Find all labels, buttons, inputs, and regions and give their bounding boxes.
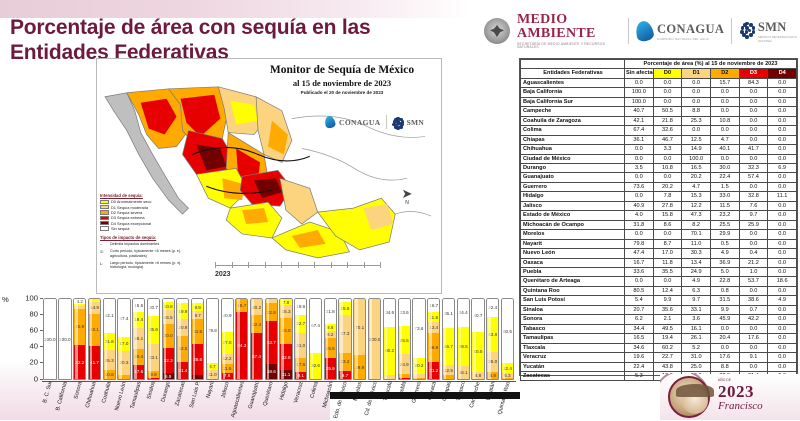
cell-d4: 0.0	[768, 362, 797, 371]
cell-d3: 0.0	[739, 343, 768, 352]
emblem-portrait-disc	[668, 376, 710, 418]
bar-segment-d3: 38.6	[192, 344, 203, 375]
bar-column: 21.432.520.919.9	[176, 298, 189, 380]
cell-d1: 47.3	[682, 211, 711, 220]
bar-segment-d0: 22.7	[295, 315, 306, 333]
bar-segment-d1: 9.7	[192, 311, 203, 319]
bar-segment-d3: 53.7	[266, 321, 277, 364]
header-d3: D3	[739, 69, 768, 78]
scale-tick	[314, 262, 315, 268]
impact-key-squiggle: ~	[100, 242, 107, 247]
bar-segment-d3: 84.3	[236, 312, 247, 379]
bar-column: 11.132.833.015.37.8	[279, 298, 292, 380]
cell-d0: 35.5	[653, 267, 682, 276]
stacked-bar: 6.932.330.016.510.8	[162, 298, 175, 380]
bar-segment-d1: 24.9	[399, 354, 410, 374]
bar-segment-d1: 15.3	[280, 305, 291, 317]
cell-sin-afectacion: 0.0	[625, 173, 654, 182]
cell-sin-afectacion: 40.9	[625, 201, 654, 210]
smn-logo: SMN SERVICIO METEOROLÓGICO NACIONAL	[739, 20, 800, 43]
stacked-bar: 100.0	[368, 298, 382, 380]
cell-d0: 17.0	[653, 249, 682, 258]
cell-d0: 46.7	[653, 135, 682, 144]
impact-text-delimiter: Delimita impactos dominantes	[110, 242, 159, 247]
cell-d2: 4.7	[710, 135, 739, 144]
cell-d3: 0.0	[739, 135, 768, 144]
cell-d1: 11.0	[682, 239, 711, 248]
cell-entity: Sonora	[521, 315, 625, 324]
bar-column: 9.117.631.022.719.6	[294, 298, 307, 380]
bar-segment-d3: 25.9	[325, 358, 336, 379]
government-header: MEDIO AMBIENTE SECRETARÍA DE MEDIO AMBIE…	[478, 8, 800, 54]
stacked-bar: 16.149.534.4	[457, 298, 470, 380]
bar-segment-d1: 13.4	[428, 322, 439, 333]
cell-d1: 16.5	[682, 163, 711, 172]
cell-sin-afectacion: 19.6	[625, 353, 654, 362]
cell-sin-afectacion: 79.8	[625, 239, 654, 248]
table-row: Querétaro de Arteaga0.00.04.922.853.718.…	[521, 277, 797, 286]
y-tick-0: 0	[34, 375, 38, 384]
cell-d3: 0.0	[739, 239, 768, 248]
bar-segment-d0: 32.6	[310, 353, 321, 379]
cell-d0: 60.2	[653, 343, 682, 352]
bar-column: 100.0	[43, 298, 57, 380]
table: Porcentaje de área (%) al 15 de noviembr…	[520, 59, 797, 381]
bar-segment-d3: 21.2	[428, 362, 439, 379]
map-scale-bar	[215, 262, 380, 269]
cell-sin-afectacion: 100.0	[625, 97, 654, 106]
cell-d1: 16.1	[682, 324, 711, 333]
divider	[628, 18, 629, 44]
cell-d2: 15.7	[710, 78, 739, 87]
bar-segment-d2: 10.8	[104, 370, 115, 379]
cell-sin-afectacion: 100.0	[625, 88, 654, 97]
conagua-subtitle: COMISIÓN NACIONAL DEL AGUA	[657, 37, 724, 41]
cell-entity: Aguascalientes	[521, 78, 625, 87]
cell-d0: 0.0	[653, 173, 682, 182]
cell-d0: 22.7	[653, 353, 682, 362]
cell-sin-afectacion: 73.6	[625, 182, 654, 191]
bar-segment-sin: 36.1	[443, 299, 454, 328]
stacked-bar: 30.317.047.4	[117, 298, 130, 380]
cell-d4: 0.0	[768, 145, 797, 154]
cell-d3: 32.8	[739, 192, 768, 201]
legend-swatch-d4	[100, 221, 109, 225]
table-row: Campeche40.750.58.80.00.00.0	[521, 107, 797, 116]
cell-sin-afectacion: 3.5	[625, 163, 654, 172]
stacked-bar: 21.432.520.919.9	[176, 298, 189, 380]
bar-column: 12.546.736.1	[442, 298, 455, 380]
bar-segment-d2	[118, 375, 129, 379]
cell-entity: Jalisco	[521, 201, 625, 210]
cell-d0: 8.7	[653, 239, 682, 248]
cell-d3: 0.0	[739, 182, 768, 191]
conagua-logo: CONAGUA COMISIÓN NACIONAL DEL AGUA	[636, 21, 724, 41]
ministry-name: MEDIO AMBIENTE	[517, 13, 621, 41]
bar-segment-d2: 11.5	[222, 364, 233, 373]
bar-segment-d1: 12.2	[222, 354, 233, 364]
bar-segment-d0: 12.4	[502, 363, 513, 373]
cell-sin-afectacion: 5.3	[625, 371, 654, 380]
cell-d1: 0.0	[682, 97, 711, 106]
cell-d3: 0.0	[739, 97, 768, 106]
divider	[731, 18, 732, 44]
divider	[386, 115, 387, 129]
bar-column: 42.245.96.2	[73, 298, 86, 380]
cell-sin-afectacion: 47.4	[625, 249, 654, 258]
bar-segment-d1: 8.8	[472, 372, 483, 379]
cell-d0: 49.5	[653, 324, 682, 333]
cell-entity: Tabasco	[521, 324, 625, 333]
cell-d4: 0.0	[768, 343, 797, 352]
cell-d0: 0.0	[653, 154, 682, 163]
stacked-bar: 11.132.833.015.37.8	[279, 298, 292, 380]
stacked-bar: 21.236.913.411.816.7	[427, 298, 440, 380]
table-row: Colima67.432.60.00.00.00.0	[521, 126, 797, 135]
legend-title: Intensidad de sequía:	[100, 193, 192, 198]
bar-segment-d1: 33.1	[148, 344, 159, 370]
cell-d2: 10.8	[710, 116, 739, 125]
cell-d4: 0.0	[768, 315, 797, 324]
chart-plot-area: 100.0100.042.245.96.241.740.114.910.825.…	[43, 298, 514, 380]
bar-segment-sin	[177, 299, 188, 303]
bar-segment-sin	[192, 299, 203, 303]
bar-segment-d3: 9.7	[339, 371, 350, 379]
bar-column: 6.312.480.5	[501, 298, 514, 380]
cell-d4: 0.0	[768, 126, 797, 135]
bar-segment-d0: 35.5	[399, 326, 410, 354]
cell-d3: 41.7	[739, 145, 768, 154]
bar-segment-d1: 47.3	[339, 315, 350, 353]
cell-d2: 45.9	[710, 315, 739, 324]
cell-d3: 57.4	[739, 173, 768, 182]
cell-d4: 0.0	[768, 249, 797, 258]
bar-segment-sin: 42.1	[104, 299, 115, 333]
map-title: Monitor de Sequía de México	[247, 64, 437, 76]
bar-segment-d1	[413, 374, 424, 378]
cell-entity: Colima	[521, 126, 625, 135]
cell-d3: 0.0	[739, 230, 768, 239]
scale-tick	[298, 262, 299, 268]
stacked-bar: 60.234.6	[383, 298, 396, 380]
bar-segment-d1: 26.1	[133, 328, 144, 349]
impact-key-short: S:	[100, 249, 107, 258]
stacked-bar: 41.740.114.9	[88, 298, 101, 380]
bar-column: 100.0	[368, 298, 382, 380]
stacked-bar: 12.546.736.1	[442, 298, 455, 380]
table-row: Chiapas36.146.712.54.70.00.0	[521, 135, 797, 144]
cell-d1: 0.0	[682, 126, 711, 135]
stacked-bar: 11.08.779.8	[206, 298, 219, 380]
cell-d1: 25.3	[682, 116, 711, 125]
y-axis: % 100 80 60 40 20 0	[0, 296, 42, 382]
bar-column: 60.234.6	[383, 298, 396, 380]
header-group-date: al 15 de noviembre de 2023	[705, 61, 777, 67]
cell-d4: 0.0	[768, 305, 797, 314]
cell-d3: 0.0	[739, 107, 768, 116]
bar-segment-d1: 11.0	[207, 370, 218, 379]
cell-d2: 40.1	[710, 145, 739, 154]
stacked-bar: 38.631.59.79.9	[191, 298, 204, 380]
bar-column: 17.620.426.119.416.5	[132, 298, 145, 380]
bar-segment-d0: 15.8	[339, 302, 350, 315]
cell-d2: 33.0	[710, 192, 739, 201]
table-row: Tlaxcala34.660.25.20.00.00.0	[521, 343, 797, 352]
table-row: Guerrero73.620.24.71.50.00.0	[521, 182, 797, 191]
table-body: Aguascalientes0.00.00.015.784.30.0Baja C…	[521, 78, 797, 381]
cell-d0: 8.6	[653, 220, 682, 229]
header-blank	[521, 60, 625, 69]
cell-d2: 1.5	[710, 182, 739, 191]
header-d2: D2	[710, 69, 739, 78]
cell-d1: 26.1	[682, 334, 711, 343]
stacked-bar: 100.0	[43, 298, 57, 380]
bar-segment-d0: 9.9	[192, 303, 203, 311]
bar-segment-d2: 40.1	[89, 314, 100, 346]
bar-segment-d3	[399, 378, 410, 379]
impact-text-short: Corto periodo, típicamente <6 meses (p. …	[110, 249, 192, 258]
bar-segment-sin: 67.4	[310, 299, 321, 353]
table-row: Coahuila de Zaragoza42.121.825.310.80.00…	[521, 116, 797, 125]
table-row: Ciudad de México0.00.0100.00.00.00.0	[521, 154, 797, 163]
legend-label-d1: D1 Sequía moderada	[111, 205, 148, 210]
bar-segment-d4: 6.9	[163, 373, 174, 379]
bar-column: 30.317.047.4	[117, 298, 130, 380]
cell-d2: 0.0	[710, 97, 739, 106]
cell-d2: 0.0	[710, 343, 739, 352]
bar-segment-d2: 22.4	[251, 315, 262, 333]
bar-segment-d0: 7.8	[280, 299, 291, 305]
bar-segment-d0: 49.5	[458, 327, 469, 367]
cell-d3: 0.4	[739, 249, 768, 258]
cell-d4: 4.9	[768, 296, 797, 305]
bar-segment-sin: 40.7	[472, 299, 483, 332]
stacked-bar: 20.273.6	[412, 298, 425, 380]
cell-entity: Tamaulipas	[521, 334, 625, 343]
cell-entity: San Luis Potosí	[521, 296, 625, 305]
impact-legend-title: Tipos de impacto de sequía:	[100, 235, 192, 240]
bar-column: 100.0	[58, 298, 72, 380]
bar-segment-d3: 42.2	[74, 345, 85, 379]
bar-segment-sin: 20.7	[148, 299, 159, 316]
smn-subtitle: SERVICIO METEOROLÓGICO NACIONAL	[758, 35, 800, 43]
cell-d4: 0.0	[768, 201, 797, 210]
bar-segment-d0: 35.6	[148, 316, 159, 344]
cell-entity: Ciudad de México	[521, 154, 625, 163]
cell-d2: 0.8	[710, 286, 739, 295]
cell-sin-afectacion: 36.1	[625, 135, 654, 144]
map-smn-name: SMN	[407, 118, 425, 127]
cell-entity: Quintana Roo	[521, 286, 625, 295]
bar-segment-sin: 34.6	[384, 299, 395, 327]
bar-segment-d0: 43.8	[487, 317, 498, 352]
table-head: Porcentaje de área (%) al 15 de noviembr…	[521, 60, 797, 79]
bar-segment-d1: 30.3	[118, 351, 129, 375]
cell-d2: 29.9	[710, 230, 739, 239]
cell-sin-afectacion: 0.0	[625, 230, 654, 239]
stacked-bar: 25.925.58.28.631.8	[324, 298, 337, 380]
bar-column: 9.933.135.620.7	[147, 298, 160, 380]
impact-item-long: L: Largo periodo, típicamente >6 meses (…	[100, 261, 192, 270]
cell-sin-afectacion: 67.4	[625, 126, 654, 135]
table-row: Quintana Roo80.512.46.30.80.00.0	[521, 286, 797, 295]
cell-d2: 31.5	[710, 296, 739, 305]
bar-segment-d1: 31.0	[295, 333, 306, 358]
header-sin-afectacion: Sin afectación	[625, 69, 654, 78]
scale-tick	[364, 262, 365, 268]
cell-entity: Baja California Sur	[521, 97, 625, 106]
x-axis-labels: B. C. SurB. CaliforniaSonoraChihuahuaCoa…	[43, 382, 514, 420]
y-tick-20: 20	[30, 358, 38, 367]
bar-segment-sin: 79.8	[207, 299, 218, 363]
stacked-bar: 18.653.722.8	[265, 298, 278, 380]
header-sin-line2: afectación	[636, 70, 653, 76]
cell-d4: 0.0	[768, 324, 797, 333]
cell-d4: 6.9	[768, 163, 797, 172]
stacked-bar: 84.315.7	[235, 298, 248, 380]
bar-segment-sin	[163, 299, 174, 302]
bar-segment-d4	[192, 375, 203, 379]
cell-d2: 5.0	[710, 267, 739, 276]
bar-segment-d1: 100.0	[369, 299, 381, 379]
bar-segment-d3: 7.6	[222, 373, 233, 379]
header-group-title: Porcentaje de área (%) al 15 de noviembr…	[625, 60, 797, 69]
bar-column: 84.315.7	[235, 298, 248, 380]
cell-d2: 0.0	[710, 107, 739, 116]
table-row: Hidalgo0.07.815.333.032.811.1	[521, 192, 797, 201]
legend-label-d2: D2 Sequía severa	[111, 210, 142, 215]
cell-entity: Veracruz	[521, 353, 625, 362]
legend-swatch-d3	[100, 216, 109, 220]
cell-d2: 8.8	[710, 362, 739, 371]
cell-d4: 0.0	[768, 135, 797, 144]
cell-sin-afectacion: 0.0	[625, 192, 654, 201]
cell-d0: 15.8	[653, 211, 682, 220]
cell-d0: 0.0	[653, 97, 682, 106]
stacked-bar: 8.825.043.822.4	[486, 298, 499, 380]
bar-segment-d1: 70.1	[354, 299, 365, 355]
cell-d4: 0.0	[768, 211, 797, 220]
scale-tick	[265, 262, 266, 268]
table-row: Nuevo León47.417.030.34.90.40.0	[521, 249, 797, 258]
bar-column: 24.935.533.6	[398, 298, 411, 380]
stacked-bar: 9.933.135.620.7	[147, 298, 160, 380]
cell-d0: 21.8	[653, 116, 682, 125]
cell-d0: 2.1	[653, 315, 682, 324]
bar-segment-d2: 36.9	[428, 333, 439, 363]
cell-d3: 42.2	[739, 315, 768, 324]
cell-entity: Tlaxcala	[521, 343, 625, 352]
bar-segment-d2	[413, 378, 424, 379]
cell-d1: 30.3	[682, 249, 711, 258]
cell-d3: 1.0	[739, 267, 768, 276]
cell-entity: Chihuahua	[521, 145, 625, 154]
bar-segment-d1: 20.2	[251, 299, 262, 315]
cell-d1: 12.2	[682, 201, 711, 210]
compass-north-label: N	[397, 200, 417, 206]
bar-segment-sin: 34.4	[458, 299, 469, 327]
map-published-date: Publicado el 20 de noviembre de 2023	[247, 90, 437, 95]
bar-segment-d1: 12.5	[443, 365, 454, 375]
map-legend: Intensidad de sequía: D0 Anormalmente se…	[100, 193, 192, 272]
bar-segment-d0: 8.7	[207, 363, 218, 370]
bar-column: 41.740.114.9	[88, 298, 101, 380]
y-tick-100: 100	[25, 294, 38, 303]
cell-d3: 0.0	[739, 362, 768, 371]
stacked-bar: 24.935.533.6	[398, 298, 411, 380]
stacked-bar: 7.611.512.227.840.9	[221, 298, 234, 380]
stacked-bar: 6.312.480.5	[501, 298, 514, 380]
bar-segment-d4: 18.6	[266, 364, 277, 379]
bar-segment-sin: 31.8	[325, 299, 336, 324]
progress-scrubber[interactable]	[330, 392, 520, 399]
cell-d0: 7.8	[653, 192, 682, 201]
stacked-bar: 10.825.321.842.1	[103, 298, 116, 380]
map-conagua-logo: CONAGUA	[325, 116, 381, 128]
legend-label-d3: D3 Sequía extrema	[111, 215, 145, 220]
bar-segment-sin: 22.4	[487, 299, 498, 317]
drought-monitor-map: Monitor de Sequía de México al 15 de nov…	[96, 58, 442, 294]
bar-segment-d0: 19.9	[177, 303, 188, 319]
cell-d2: 17.6	[710, 353, 739, 362]
bar-segment-d0	[74, 304, 85, 306]
bar-segment-sin: 73.6	[413, 299, 424, 358]
table-row: Durango3.510.816.530.032.36.9	[521, 163, 797, 172]
bar-segment-d3	[148, 378, 159, 379]
cell-sin-afectacion: 5.4	[625, 296, 654, 305]
bar-segment-d3: 57.4	[251, 333, 262, 379]
cell-sin-afectacion: 22.4	[625, 362, 654, 371]
header-d0: D0	[653, 69, 682, 78]
map-logos: CONAGUA SMN	[325, 115, 424, 129]
cell-entity: Guanajuato	[521, 173, 625, 182]
cell-entity: Yucatán	[521, 362, 625, 371]
stacked-bar: 57.422.420.2	[250, 298, 263, 380]
bar-segment-d2: 33.0	[280, 318, 291, 344]
legend-item-none: Sin sequía	[100, 226, 192, 231]
bar-segment-sin	[339, 299, 350, 302]
swirl-dot	[745, 30, 749, 34]
bar-segment-d1	[384, 375, 395, 379]
cell-sin-afectacion: 0.0	[625, 154, 654, 163]
bar-column: 32.667.4	[309, 298, 322, 380]
table-row: Tabasco34.449.516.10.00.00.0	[521, 324, 797, 333]
bar-segment-d0: 60.2	[384, 327, 395, 375]
cell-sin-afectacion: 0.0	[625, 277, 654, 286]
bar-column: 18.653.722.8	[265, 298, 278, 380]
stacked-bar-chart: % 100 80 60 40 20 0 100.0100.042.245.96.…	[0, 296, 516, 420]
bar-segment-sin: 100.0	[44, 299, 56, 379]
cell-entity: Chiapas	[521, 135, 625, 144]
bar-segment-d3: 32.8	[280, 344, 291, 370]
cell-d0: 0.0	[653, 88, 682, 97]
table-row: Baja California100.00.00.00.00.00.0	[521, 88, 797, 97]
table-row: Aguascalientes0.00.00.015.784.30.0	[521, 78, 797, 87]
bar-segment-d1: 20.9	[177, 319, 188, 336]
bar-segment-d2: 22.8	[266, 303, 277, 321]
legend-label-d4: D4 Sequía excepcional	[111, 221, 151, 226]
cell-sin-afectacion: 6.2	[625, 315, 654, 324]
cell-entity: Morelos	[521, 230, 625, 239]
cell-d2: 0.0	[710, 154, 739, 163]
cell-d1: 8.8	[682, 107, 711, 116]
bar-segment-d2: 32.5	[177, 336, 188, 362]
scale-tick	[281, 262, 282, 268]
bar-column: 8.850.540.7	[471, 298, 484, 380]
stacked-bar: 29.970.1	[353, 298, 366, 380]
table-row: Tamaulipas16.519.426.120.417.60.0	[521, 334, 797, 343]
impact-item-short: S: Corto periodo, típicamente <6 meses (…	[100, 249, 192, 258]
